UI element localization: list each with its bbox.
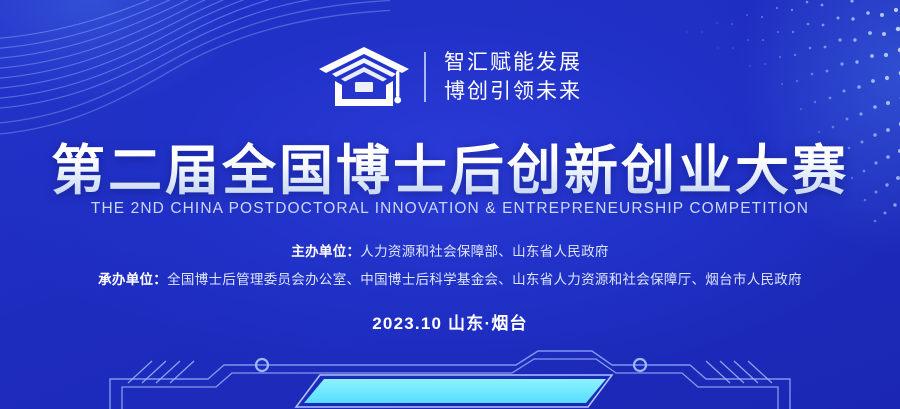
competition-poster: 智汇赋能发展 博创引领未来 第二届全国博士后创新创业大赛 THE 2ND CHI… <box>0 0 900 409</box>
host-label: 主办单位： <box>291 244 360 259</box>
node-circle-right <box>634 359 646 371</box>
page-title-en: THE 2ND CHINA POSTDOCTORAL INNOVATION & … <box>0 200 900 218</box>
host-value: 人力资源和社会保障部、山东省人民政府 <box>360 244 608 259</box>
node-circle-left <box>256 359 268 371</box>
graduation-cap-logo-icon <box>318 44 410 110</box>
host-organization-line: 主办单位：人力资源和社会保障部、山东省人民政府 <box>0 240 900 260</box>
bottom-tech-band-decoration <box>0 329 900 409</box>
cyan-accent-bar <box>304 379 606 403</box>
logo-divider <box>424 52 426 102</box>
organizer-value: 全国博士后管理委员会办公室、中国博士后科学基金会、山东省人力资源和社会保障厅、烟… <box>167 272 802 287</box>
co-organizer-line: 承办单位：全国博士后管理委员会办公室、中国博士后科学基金会、山东省人力资源和社会… <box>0 268 900 288</box>
organizer-label: 承办单位： <box>98 272 167 287</box>
slogan-line-2: 博创引领未来 <box>444 79 582 105</box>
event-date-location: 2023.10 山东·烟台 <box>0 309 900 334</box>
slogan-block: 智汇赋能发展 博创引领未来 <box>444 50 582 104</box>
page-title-cn: 第二届全国博士后创新创业大赛 <box>0 126 900 205</box>
brand-lockup: 智汇赋能发展 博创引领未来 <box>0 44 900 110</box>
slogan-line-1: 智汇赋能发展 <box>444 50 582 76</box>
